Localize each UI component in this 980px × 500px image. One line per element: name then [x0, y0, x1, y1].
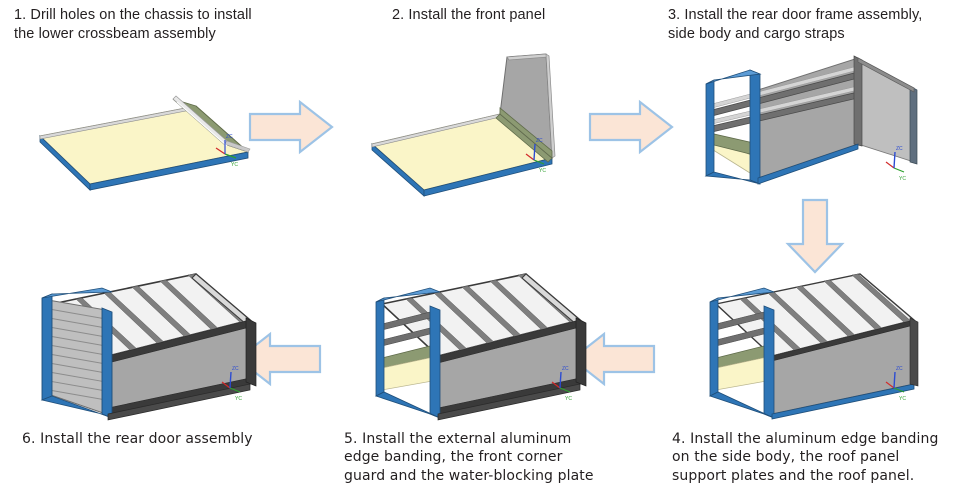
front-corner-guard [246, 318, 256, 386]
svg-text:YC: YC [231, 162, 238, 168]
step-3-caption: 3. Install the rear door frame assembly,… [668, 6, 974, 44]
front-corner-guard [576, 318, 586, 386]
svg-text:YC: YC [235, 396, 242, 402]
svg-text:ZC: ZC [232, 366, 239, 372]
svg-text:ZC: ZC [536, 138, 543, 144]
corner-post-mid [854, 56, 862, 146]
door-frame-post-left [42, 294, 52, 400]
step-4-figure: ZC YC [682, 262, 972, 422]
corner-post-far [910, 318, 918, 386]
door-frame-post-left [376, 298, 384, 396]
step-5-figure: ZC YC [348, 262, 638, 422]
door-frame-post-left [710, 298, 718, 396]
step-1-figure: ZC YC [10, 78, 260, 188]
step-2-figure: ZC YC [360, 52, 600, 192]
door-frame-post-right [750, 70, 760, 184]
door-frame-post-left [706, 80, 714, 176]
arrow-right-shape [250, 102, 332, 152]
svg-text:ZC: ZC [226, 134, 233, 140]
svg-text:YC: YC [899, 176, 906, 182]
diagram-canvas: 1. Drill holes on the chassis to install… [0, 0, 980, 500]
arrow-2-to-3 [588, 98, 674, 156]
step-5-caption: 5. Install the external aluminum edge ba… [344, 430, 644, 485]
arrow-right-shape [590, 102, 672, 152]
step-2-caption: 2. Install the front panel [392, 6, 672, 25]
svg-text:ZC: ZC [562, 366, 569, 372]
svg-text:ZC: ZC [896, 366, 903, 372]
step-6-caption: 6. Install the rear door assembly [22, 430, 322, 448]
svg-text:YC: YC [539, 168, 546, 174]
step-1-caption: 1. Drill holes on the chassis to install… [14, 6, 314, 44]
step-6-figure: ZC YC [18, 262, 308, 422]
step-4-caption: 4. Install the aluminum edge banding on … [672, 430, 974, 485]
door-frame-post-right [102, 308, 112, 418]
svg-text:YC: YC [565, 396, 572, 402]
svg-text:ZC: ZC [896, 146, 903, 152]
door-frame-post-right [430, 306, 440, 418]
corner-post-far [910, 86, 917, 164]
step-3-figure: ZC YC [682, 48, 972, 200]
svg-text:YC: YC [899, 396, 906, 402]
door-frame-post-right [764, 306, 774, 418]
arrow-1-to-2 [248, 98, 334, 156]
